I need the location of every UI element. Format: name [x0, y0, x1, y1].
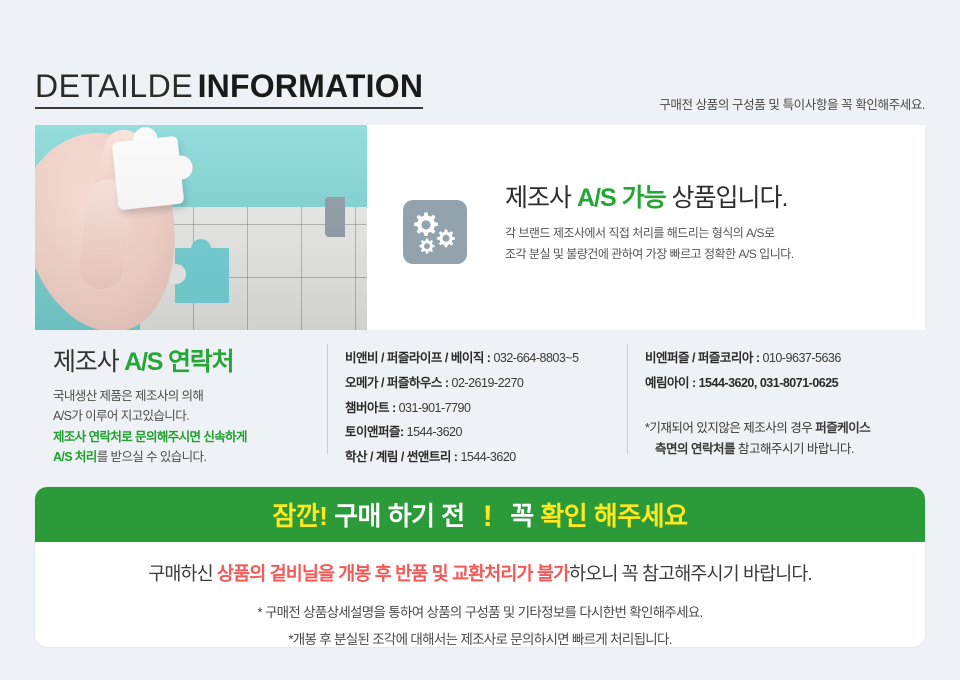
list-item: 오메가 / 퍼즐하우스 : 02-2619-2270 — [345, 371, 620, 396]
gears-icon — [403, 200, 467, 264]
contact-desc-line-2: A/S가 이루어 지고있습니다. — [53, 409, 189, 423]
contact-footnote-bold-2: 측면의 연락처를 — [655, 442, 735, 456]
notice-banner: 잠깐! 구매 하기 전!꼭 확인 해주세요 — [35, 487, 925, 542]
photo-missing-piece-hole — [175, 248, 229, 303]
banner-part-3: 꼭 — [510, 501, 540, 531]
purchase-notice-card: 잠깐! 구매 하기 전!꼭 확인 해주세요 구매하신 상품의 겉비닐을 개봉 후… — [35, 487, 925, 647]
photo-edge-tab — [325, 197, 345, 237]
as-heading: 제조사 A/S 가능 상품입니다. — [505, 185, 925, 213]
as-heading-pre: 제조사 — [505, 184, 577, 212]
contact-divider-2 — [627, 344, 628, 454]
contact-title-highlight: A/S 연락처 — [124, 348, 233, 376]
contact-desc-green-2-rest: 를 받으실 수 있습니다. — [97, 450, 207, 464]
contact-phone: 031-901-7790 — [399, 401, 471, 415]
contact-desc-green-2-bold: A/S 처리 — [53, 450, 97, 464]
contact-footnote-line-2: 측면의 연락처를 참고해주시기 바랍니다. — [645, 439, 935, 461]
notice-line-1-red: 상품의 겉비닐을 개봉 후 반품 및 교환처리가 불가 — [217, 563, 569, 584]
contact-name: 챔버아트 : — [345, 401, 399, 415]
contact-name: 학산 / 계림 / 썬앤트리 : — [345, 450, 460, 464]
page-title-bold: INFORMATION — [198, 68, 424, 104]
contact-list-right: 비엔퍼즐 / 퍼즐코리아 : 010-9637-5636 예림아이 : 1544… — [645, 346, 935, 461]
contact-title: 제조사 A/S 연락처 — [53, 342, 325, 378]
contact-title-pre: 제조사 — [53, 348, 124, 376]
contact-phone: 1544-3620 — [407, 425, 462, 439]
notice-body: 구매하신 상품의 겉비닐을 개봉 후 반품 및 교환처리가 불가하오니 꼭 참고… — [35, 542, 925, 647]
contact-list-middle: 비앤비 / 퍼즐라이프 / 베이직 : 032-664-8803~5 오메가 /… — [345, 346, 620, 470]
contact-name: 오메가 / 퍼즐하우스 : — [345, 376, 452, 390]
banner-part-4: 확인 해주세요 — [540, 501, 687, 531]
contact-description: 국내생산 제품은 제조사의 의해 A/S가 이루어 지고있습니다. 제조사 연락… — [53, 386, 325, 467]
as-heading-highlight: A/S 가능 — [577, 184, 666, 212]
contact-name: 비앤비 / 퍼즐라이프 / 베이직 : — [345, 351, 493, 365]
contact-phone: 010-9637-5636 — [763, 351, 841, 365]
contact-phone: 1544-3620 — [460, 450, 515, 464]
notice-line-3: *개봉 후 분실된 조각에 대해서는 제조사로 문의하시면 빠르게 처리됩니다. — [35, 628, 925, 647]
contact-name: 토이앤퍼즐: — [345, 425, 407, 439]
header-note: 구매전 상품의 구성품 및 특이사항을 꼭 확인해주세요. — [659, 94, 925, 113]
photo-held-puzzle-piece — [112, 136, 185, 211]
page-title: DETAILDE INFORMATION — [35, 70, 423, 109]
page-header: DETAILDE INFORMATION 구매전 상품의 구성품 및 특이사항을… — [35, 70, 925, 118]
as-text-block: 제조사 A/S 가능 상품입니다. 각 브랜드 제조사에서 직접 처리를 해드리… — [505, 185, 925, 265]
notice-line-1-post: 하오니 꼭 참고해주시기 바랍니다. — [569, 563, 812, 584]
list-item: 챔버아트 : 031-901-7790 — [345, 396, 620, 421]
notice-banner-text: 잠깐! 구매 하기 전!꼭 확인 해주세요 — [272, 496, 687, 533]
contact-phone: 1544-3620, 031-8071-0625 — [699, 376, 839, 390]
list-item: 토이앤퍼즐: 1544-3620 — [345, 420, 620, 445]
contact-footnote-pre: *기재되어 있지않은 제조사의 경우 — [645, 421, 815, 435]
contact-section: 제조사 A/S 연락처 국내생산 제품은 제조사의 의해 A/S가 이루어 지고… — [35, 338, 925, 468]
banner-part-1: 잠깐! — [272, 501, 327, 531]
as-subtext-line-1: 각 브랜드 제조사에서 직접 처리를 해드리는 형식의 A/S로 — [505, 223, 925, 244]
contact-desc-line-1: 국내생산 제품은 제조사의 의해 — [53, 389, 203, 403]
as-subtext: 각 브랜드 제조사에서 직접 처리를 해드리는 형식의 A/S로 조각 분실 및… — [505, 223, 925, 265]
contact-footnote-bold-1: 퍼즐케이스 — [815, 421, 870, 435]
contact-desc-green-1: 제조사 연락처로 문의해주시면 신속하게 — [53, 430, 247, 444]
as-heading-post: 상품입니다. — [666, 184, 788, 212]
notice-line-2: * 구매전 상품상세설명을 통하여 상품의 구성품 및 기타정보를 다시한번 확… — [35, 601, 925, 621]
banner-exclamation: ! — [465, 500, 511, 533]
contact-divider-1 — [327, 344, 328, 454]
notice-line-1: 구매하신 상품의 겉비닐을 개봉 후 반품 및 교환처리가 불가하오니 꼭 참고… — [35, 560, 925, 586]
list-item: 비엔퍼즐 / 퍼즐코리아 : 010-9637-5636 — [645, 346, 935, 371]
contact-phone: 02-2619-2270 — [452, 376, 524, 390]
contact-footnote: *기재되어 있지않은 제조사의 경우 퍼즐케이스 측면의 연락처를 참고해주시기… — [645, 418, 935, 462]
as-info-panel: 제조사 A/S 가능 상품입니다. 각 브랜드 제조사에서 직접 처리를 해드리… — [35, 125, 925, 330]
contact-footnote-post: 참고해주시기 바랍니다. — [735, 442, 854, 456]
contact-name: 예림아이 : — [645, 376, 699, 390]
contact-intro: 제조사 A/S 연락처 국내생산 제품은 제조사의 의해 A/S가 이루어 지고… — [53, 342, 325, 467]
as-subtext-line-2: 조각 분실 및 불량건에 관하여 가장 빠르고 정확한 A/S 입니다. — [505, 244, 925, 265]
list-item: 학산 / 계림 / 썬앤트리 : 1544-3620 — [345, 445, 620, 470]
list-item: 예림아이 : 1544-3620, 031-8071-0625 — [645, 371, 935, 396]
puzzle-hand-photo — [35, 125, 367, 330]
list-item: 비앤비 / 퍼즐라이프 / 베이직 : 032-664-8803~5 — [345, 346, 620, 371]
banner-part-2: 구매 하기 전 — [327, 501, 464, 531]
contact-phone: 032-664-8803~5 — [493, 351, 578, 365]
contact-name: 비엔퍼즐 / 퍼즐코리아 : — [645, 351, 763, 365]
page-title-light: DETAILDE — [35, 68, 193, 104]
notice-line-1-pre: 구매하신 — [148, 563, 217, 584]
